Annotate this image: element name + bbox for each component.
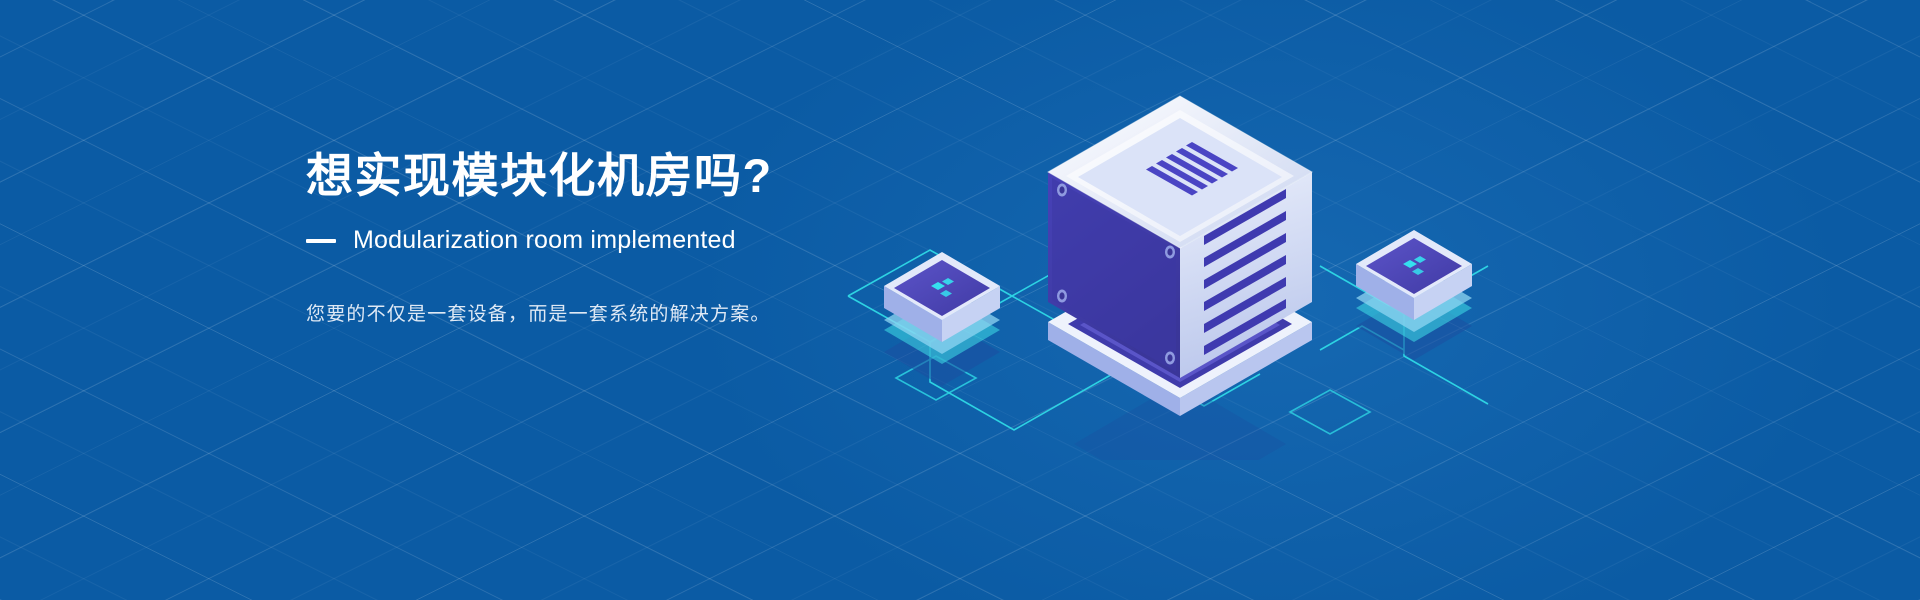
- hero-banner: 想实现模块化机房吗? Modularization room implement…: [0, 0, 1920, 600]
- server-illustration: [800, 60, 1560, 460]
- subtitle-rule-icon: [306, 239, 336, 243]
- subtitle: Modularization room implemented: [353, 226, 736, 255]
